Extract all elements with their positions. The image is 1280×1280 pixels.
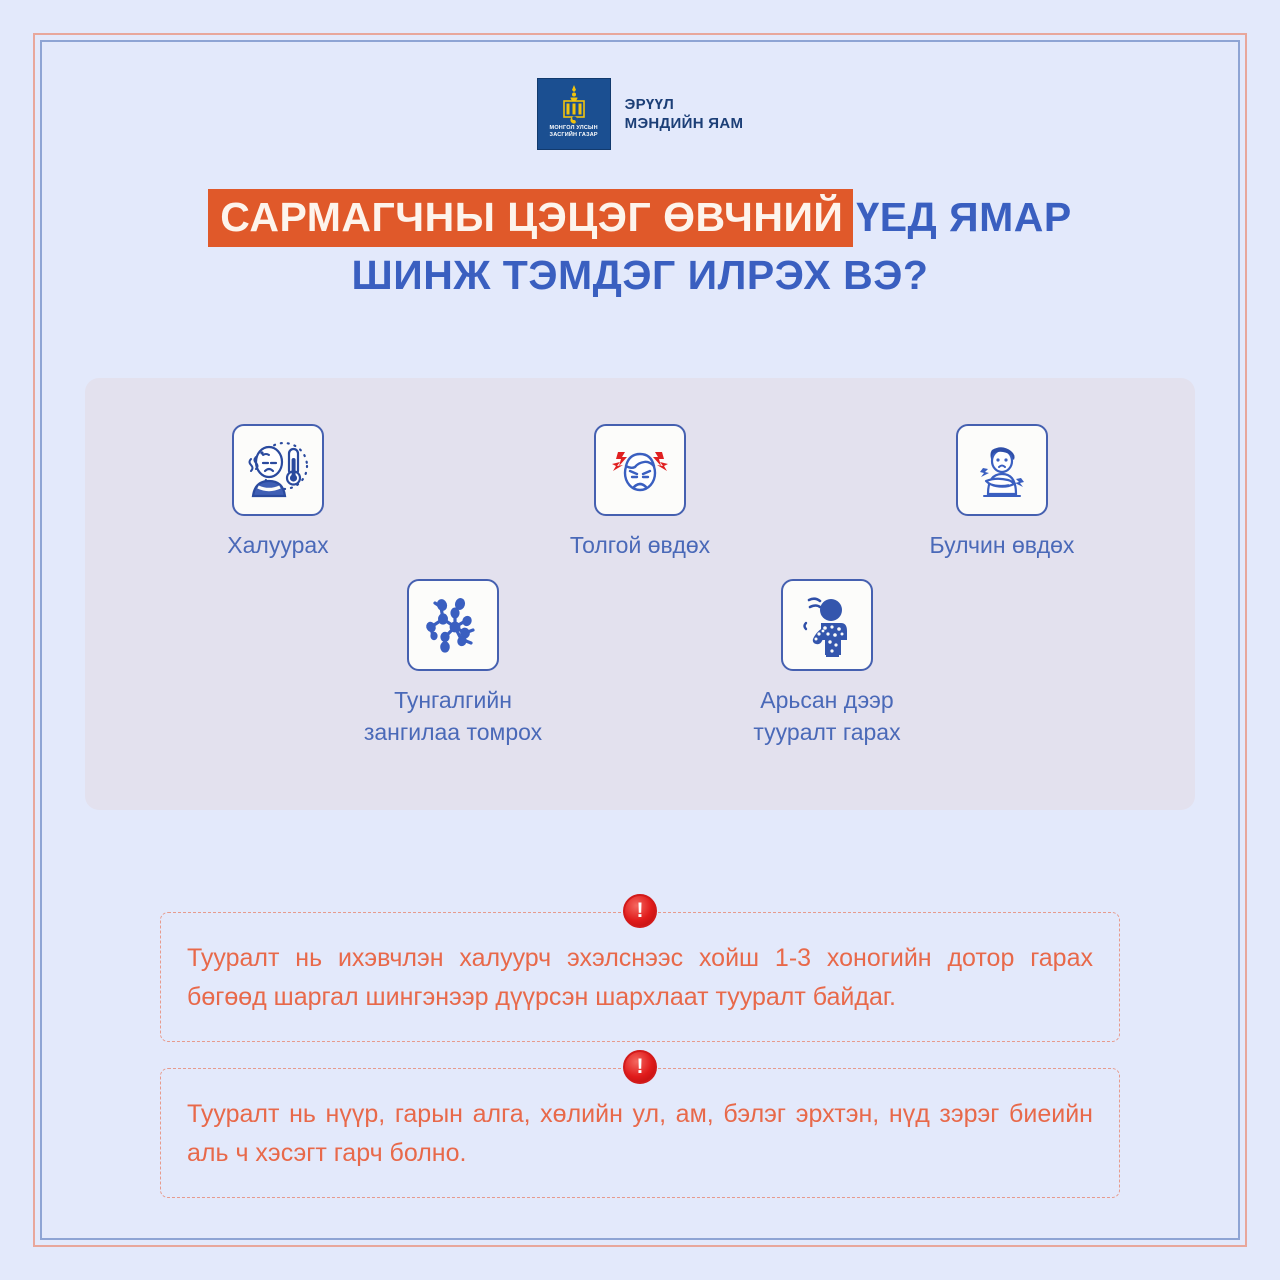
- title-highlight: САРМАГЧНЫ ЦЭЦЭГ ӨВЧНИЙ: [208, 189, 853, 247]
- symptom-row-top: Халуурах: [85, 378, 1195, 561]
- symptom-item-headache: Толгой өвдөх: [530, 424, 750, 561]
- emblem-text-line1: МОНГОЛ УЛСЫН: [550, 125, 598, 132]
- headache-icon: [594, 424, 686, 516]
- fever-thermometer-icon: [232, 424, 324, 516]
- skin-rash-icon: [781, 579, 873, 671]
- title-line-1: САРМАГЧНЫ ЦЭЦЭГ ӨВЧНИЙҮЕД ЯМАР: [0, 190, 1280, 244]
- symptom-label: Толгой өвдөх: [570, 529, 710, 561]
- page-title: САРМАГЧНЫ ЦЭЦЭГ ӨВЧНИЙҮЕД ЯМАР ШИНЖ ТЭМД…: [0, 190, 1280, 306]
- header: МОНГОЛ УЛСЫН ЗАСГИЙН ГАЗАР ЭРҮҮЛ МЭНДИЙН…: [0, 78, 1280, 150]
- symptom-row-bottom: Тунгалгийн зангилаа томрох: [85, 561, 1195, 748]
- symptom-label: Арьсан дээр тууралт гарах: [717, 684, 937, 748]
- alert-box: ! Тууралт нь нүүр, гарын алга, хөлийн ул…: [160, 1068, 1120, 1198]
- symptom-label: Тунгалгийн зангилаа томрох: [343, 684, 563, 748]
- symptom-item-skin-rash: Арьсан дээр тууралт гарах: [717, 579, 937, 748]
- alert-box: ! Тууралт нь ихэвчлэн халуурч эхэлснээс …: [160, 912, 1120, 1042]
- symptom-item-fever: Халуурах: [168, 424, 388, 561]
- ministry-name-line1: ЭРҮҮЛ: [625, 95, 744, 114]
- alert-text: Тууралт нь ихэвчлэн халуурч эхэлснээс хо…: [187, 939, 1093, 1017]
- ministry-name: ЭРҮҮЛ МЭНДИЙН ЯАМ: [625, 95, 744, 133]
- title-line-2: ШИНЖ ТЭМДЭГ ИЛРЭХ ВЭ?: [0, 244, 1280, 306]
- exclamation-mark: !: [637, 900, 644, 921]
- soyombo-emblem-icon: [557, 83, 591, 125]
- symptom-item-lymph-nodes: Тунгалгийн зангилаа томрох: [343, 579, 563, 748]
- symptom-label: Булчин өвдөх: [930, 529, 1075, 561]
- symptom-item-muscle-pain: Булчин өвдөх: [892, 424, 1112, 561]
- ministry-name-line2: МЭНДИЙН ЯАМ: [625, 114, 744, 133]
- exclamation-circle-icon: !: [623, 1050, 657, 1084]
- alert-list: ! Тууралт нь ихэвчлэн халуурч эхэлснээс …: [160, 912, 1120, 1224]
- symptom-label: Халуурах: [227, 529, 328, 561]
- exclamation-mark: !: [637, 1056, 644, 1077]
- title-rest: ҮЕД ЯМАР: [856, 194, 1071, 240]
- alert-text: Тууралт нь нүүр, гарын алга, хөлийн ул, …: [187, 1095, 1093, 1173]
- infographic-poster: МОНГОЛ УЛСЫН ЗАСГИЙН ГАЗАР ЭРҮҮЛ МЭНДИЙН…: [0, 0, 1280, 1280]
- lymph-node-icon: [407, 579, 499, 671]
- exclamation-circle-icon: !: [623, 894, 657, 928]
- muscle-pain-icon: [956, 424, 1048, 516]
- government-emblem-logo: МОНГОЛ УЛСЫН ЗАСГИЙН ГАЗАР: [537, 78, 611, 150]
- symptom-panel: Халуурах: [85, 378, 1195, 810]
- emblem-text-line2: ЗАСГИЙН ГАЗАР: [550, 132, 598, 139]
